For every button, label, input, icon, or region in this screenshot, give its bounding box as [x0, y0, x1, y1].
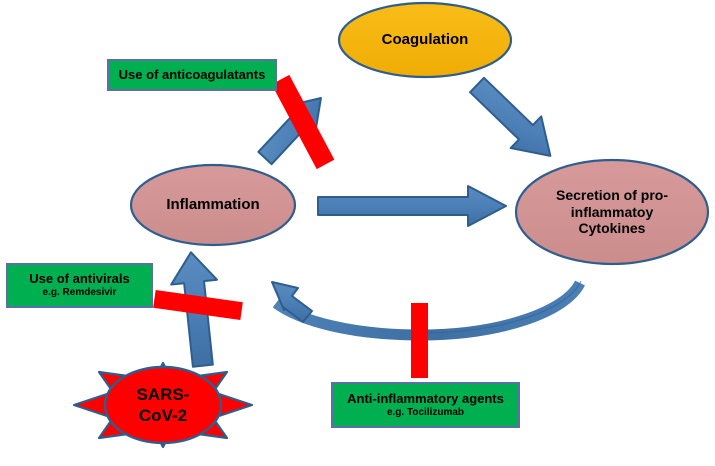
intervention-box-anticoagulants[interactable]: Use of anticoagulatants: [107, 59, 277, 91]
intervention-box-anti-inflammatory[interactable]: Anti-inflammatory agents e.g. Tocilizuma…: [331, 382, 520, 428]
blocker-anti-inflammatory: [411, 303, 428, 378]
node-virus-shape[interactable]: [74, 363, 252, 447]
virus-body: [105, 367, 221, 443]
node-cytokines-shape[interactable]: [516, 160, 708, 264]
anticoagulants-title: Use of anticoagulatants: [119, 68, 266, 83]
intervention-box-antivirals[interactable]: Use of antivirals e.g. Remdesivir: [6, 263, 153, 308]
arrow-inflammation-to-cytokines[interactable]: [318, 186, 506, 226]
diagram-canvas: Coagulation Inflammation Secretion of pr…: [0, 0, 715, 466]
arrow-coagulation-to-cytokines[interactable]: [462, 69, 566, 172]
anti-inflammatory-title: Anti-inflammatory agents: [347, 392, 504, 407]
antivirals-subtitle: e.g. Remdesivir: [43, 287, 117, 299]
anti-inflammatory-subtitle: e.g. Tocilizumab: [387, 407, 464, 419]
node-coagulation-shape[interactable]: [339, 3, 511, 77]
node-inflammation-shape[interactable]: [131, 165, 295, 245]
antivirals-title: Use of antivirals: [29, 272, 129, 287]
